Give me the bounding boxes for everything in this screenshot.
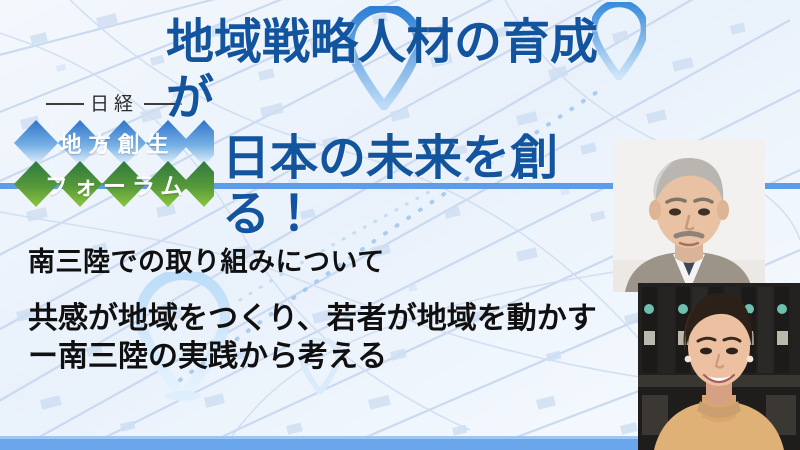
- headline-line-1: 地域戦略人材の育成が: [160, 14, 630, 126]
- session-title: 共感が地域をつくり、若者が地域を動かす ー南三陸の実践から考える: [28, 300, 648, 377]
- headline-line-2: 日本の未来を創る！: [160, 130, 630, 242]
- session-topic: 南三陸での取り組みについて: [28, 248, 648, 278]
- forum-banner: 日経: [0, 0, 800, 450]
- speaker-photo-upper: [613, 140, 765, 292]
- session-title-line-1: 共感が地域をつくり、若者が地域を動かす: [28, 300, 648, 338]
- publisher-name: 日経: [90, 94, 138, 114]
- speaker-photo-lower: [638, 283, 800, 450]
- session-block: 南三陸での取り組みについて 共感が地域をつくり、若者が地域を動かす ー南三陸の実…: [28, 248, 648, 376]
- event-headline: 地域戦略人材の育成が 日本の未来を創る！: [160, 14, 630, 243]
- session-title-line-2: ー南三陸の実践から考える: [28, 338, 648, 376]
- horizontal-rule-icon: [46, 103, 84, 105]
